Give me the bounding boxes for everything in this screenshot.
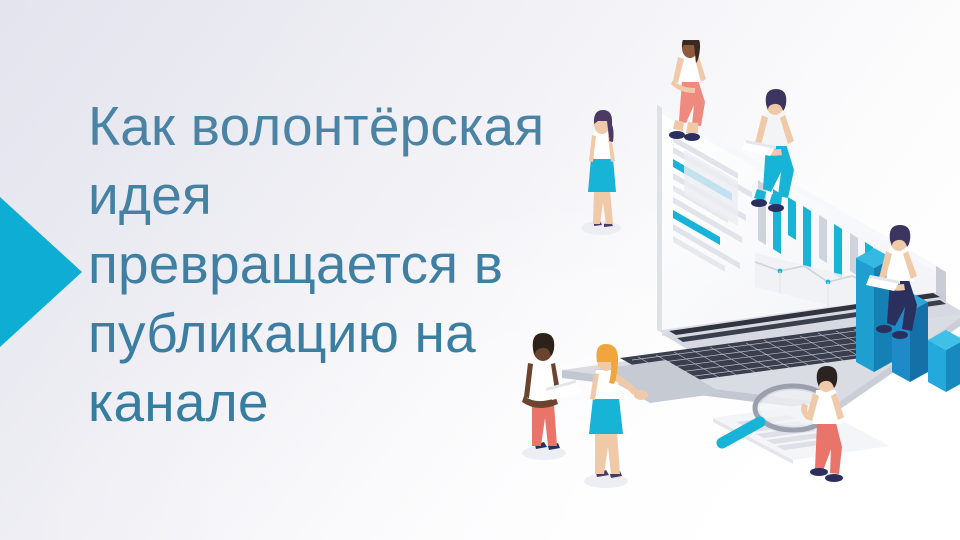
woman-sitting-on-screen xyxy=(669,40,706,141)
man-with-documents xyxy=(522,333,582,460)
cyan-triangle-arrow-icon xyxy=(0,197,82,347)
slide-canvas: Как волонтёрская идея превращается в пуб… xyxy=(0,0,960,540)
isometric-illustration xyxy=(470,40,960,510)
woman-standing-left xyxy=(581,110,621,235)
